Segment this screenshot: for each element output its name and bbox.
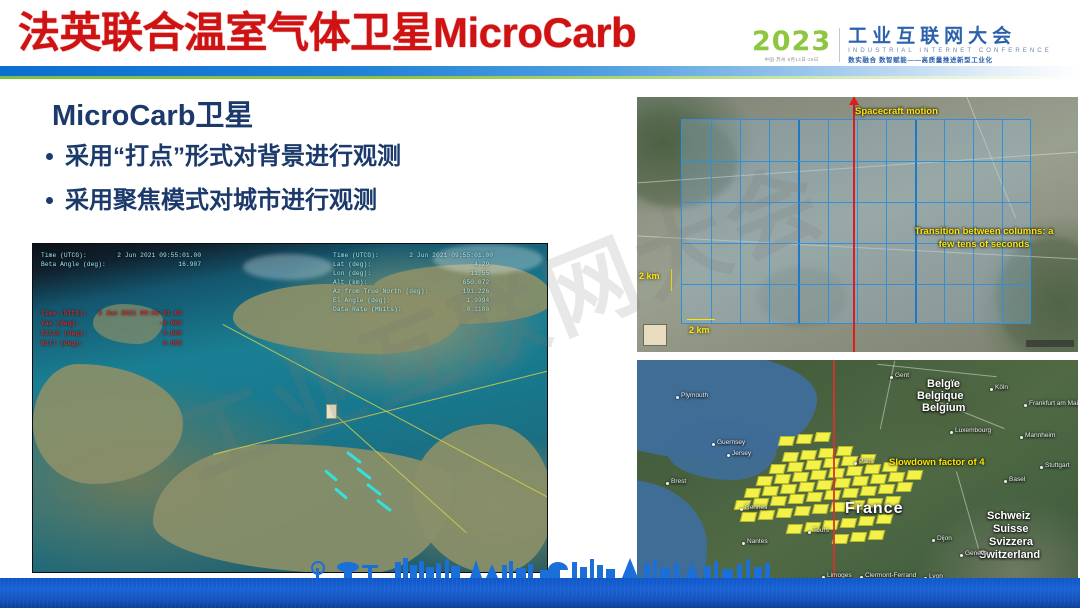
map-place-label: Brest (671, 478, 686, 485)
header-rule-green (0, 76, 1080, 79)
logo-year-subtitle: 中国·苏州 8月14日-16日 (764, 57, 818, 63)
header-rule-blue (0, 66, 1080, 76)
map-place-label: Jersey (732, 450, 751, 457)
label-slowdown-factor: Slowdown factor of 4 (889, 456, 1059, 469)
map-place-label: Luxembourg (955, 427, 991, 434)
map-city-dot (740, 508, 743, 511)
map-city-dot (990, 388, 993, 391)
slide-root: 法英联合温室气体卫星MicroCarb 2023 中国·苏州 8月14日-16日… (0, 0, 1080, 608)
list-item: 采用聚焦模式对城市进行观测 (46, 186, 606, 216)
logo-name-en: INDUSTRIAL INTERNET CONFERENCE (848, 47, 1052, 56)
map-city-dot (960, 554, 963, 557)
city-skyline-decoration (300, 556, 780, 578)
scale-label-vertical: 2 km (639, 271, 660, 281)
map-place-label: Svizzera (989, 536, 1033, 548)
spacecraft-track-arrow (853, 97, 855, 352)
bullet-dot-icon (46, 153, 53, 160)
logo-name-block: 工业互联网大会 INDUSTRIAL INTERNET CONFERENCE 数… (848, 26, 1052, 65)
map-city-dot (742, 542, 745, 545)
observation-grid (681, 119, 1031, 324)
map-place-label: Nantes (747, 538, 768, 545)
map-place-label: Belgïe (927, 378, 960, 390)
spacecraft-ground-track (833, 360, 835, 608)
map-place-label: Plymouth (681, 392, 708, 399)
map-place-label: Schweiz (987, 510, 1030, 522)
map-city-dot (727, 454, 730, 457)
telemetry-red-2: Yaw (deg): -0.000 (41, 320, 182, 328)
section-heading: MicroCarb卫星 (52, 92, 253, 134)
map-place-label: Tours (813, 527, 829, 534)
map-city-dot (890, 376, 893, 379)
page-title: 法英联合温室气体卫星MicroCarb (18, 4, 718, 62)
logo-year-block: 2023 中国·苏州 8月14日-16日 (752, 28, 839, 63)
map-city-dot (1020, 436, 1023, 439)
telemetry-right-3: Lon (deg): 11.55 (333, 270, 489, 278)
telemetry-right-2: Lat (deg): 4.29 (333, 261, 489, 269)
map-place-label: Stuttgart (1045, 462, 1070, 469)
telemetry-red-4: Roll (deg): 0.000 (41, 340, 182, 348)
bullet-text: 采用聚焦模式对城市进行观测 (65, 186, 377, 216)
scale-label-horizontal: 2 km (689, 325, 710, 335)
map-place-label: Rennes (745, 504, 767, 511)
map-place-label: Belgique (917, 390, 963, 402)
map-place-label: Köln (995, 384, 1008, 391)
map-place-label: Genève (965, 550, 988, 557)
map-place-label: Dijon (937, 535, 952, 542)
map-controls-icon (1026, 340, 1074, 347)
map-place-label: Guernsey (717, 439, 745, 446)
map-place-label: Frankfurt am Main (1029, 400, 1078, 407)
label-transition: Transition between columns: a few tens o… (909, 225, 1059, 251)
map-place-label: Belgium (922, 402, 965, 414)
label-spacecraft-motion: Spacecraft motion (855, 105, 1005, 118)
map-city-dot (1040, 466, 1043, 469)
logo-year: 2023 (752, 28, 831, 55)
map-place-label: Gent (895, 372, 909, 379)
satellite-simulation-image: Time (UTCG): 2 Jun 2021 09:55:01.00 Beta… (32, 243, 548, 573)
map-city-dot (808, 531, 811, 534)
telemetry-right-4: Alt (km): 650.072 (333, 279, 489, 287)
map-city-dot (932, 539, 935, 542)
telemetry-red-1: Time (UTCG): 2 Jun 2021 09:55:01.00 (41, 310, 182, 318)
logo-divider (839, 28, 840, 62)
map-place-label: Basel (1009, 476, 1025, 483)
map-city-dot (666, 482, 669, 485)
telemetry-top-left: Time (UTCG): 2 Jun 2021 09:55:01.00 (41, 252, 201, 260)
bullet-dot-icon (46, 197, 53, 204)
map-city-dot (1004, 480, 1007, 483)
satellite-marker-icon (326, 404, 337, 419)
map-place-label: Paris (859, 458, 874, 465)
map-city-dot (1024, 404, 1027, 407)
list-item: 采用“打点”形式对背景进行观测 (46, 142, 606, 172)
conference-logo: 2023 中国·苏州 8月14日-16日 工业互联网大会 INDUSTRIAL … (752, 24, 1074, 66)
bullet-list: 采用“打点”形式对背景进行观测 采用聚焦模式对城市进行观测 (46, 142, 606, 230)
logo-name-cn: 工业互联网大会 (848, 26, 1052, 47)
map-city-dot (950, 431, 953, 434)
map-city-dot (712, 443, 715, 446)
map-place-label: Switzerland (979, 549, 1040, 561)
map-thumbnail-icon (643, 324, 667, 346)
map-city-dot (676, 396, 679, 399)
map-place-label: Mannheim (1025, 432, 1055, 439)
telemetry-right-7: Data Rate (Mbits): 0.1100 (333, 306, 489, 314)
logo-slogan: 数实融合 数智赋能——高质量推进新型工业化 (848, 56, 1052, 65)
telemetry-red-3: Pitch (deg): 0.000 (41, 330, 182, 338)
map-place-label: Suisse (993, 523, 1028, 535)
map-place-label: France (845, 500, 903, 518)
telemetry-right-5: Az from True North (deg): 191.226 (333, 288, 489, 296)
map-city-dot (854, 462, 857, 465)
footer-band (0, 578, 1080, 608)
telemetry-right-1: Time (UTCG): 2 Jun 2021 09:55:01.00 (333, 252, 493, 260)
telemetry-top-left-2: Beta Angle (deg): 16.907 (41, 261, 201, 269)
swath-grid-image: Spacecraft motion Transition between col… (637, 97, 1078, 352)
bullet-text: 采用“打点”形式对背景进行观测 (65, 142, 401, 172)
telemetry-right-6: El Angle (deg): 1.9994 (333, 297, 489, 305)
